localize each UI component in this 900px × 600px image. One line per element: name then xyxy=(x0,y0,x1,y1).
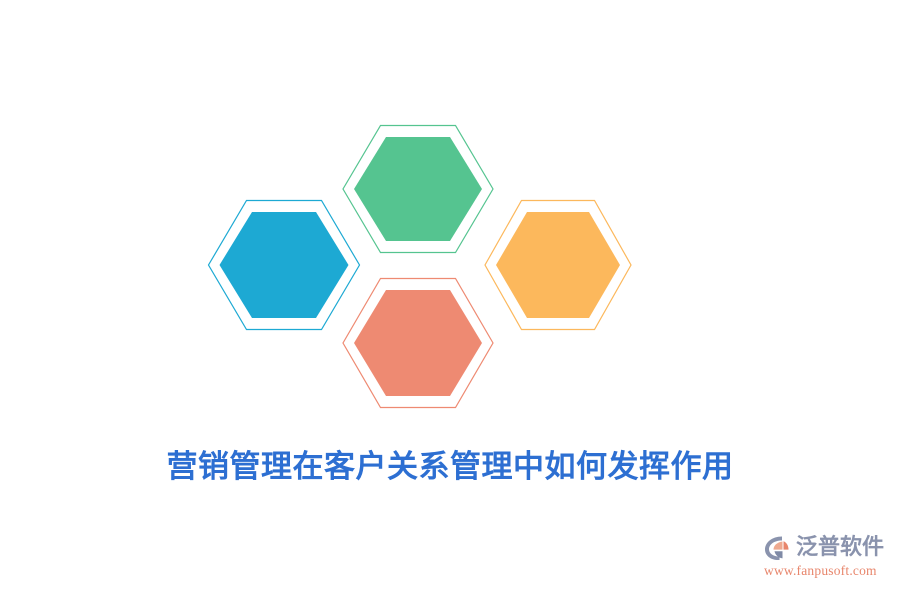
hexagon-orange xyxy=(485,201,631,330)
fanpu-logo-icon xyxy=(762,533,794,563)
hexagon-green-fill xyxy=(354,137,482,241)
watermark: 泛普软件 www.fanpusoft.com xyxy=(762,532,898,584)
hexagon-blue xyxy=(209,201,360,330)
watermark-brand-row: 泛普软件 xyxy=(762,532,898,564)
hexagon-orange-fill xyxy=(496,212,620,318)
hexagon-blue-fill xyxy=(220,212,349,318)
page-title: 营销管理在客户关系管理中如何发挥作用 xyxy=(0,441,900,486)
hexagon-salmon xyxy=(343,279,493,408)
poster-canvas: 营销管理在客户关系管理中如何发挥作用 泛普软件 www.fanpusoft.co… xyxy=(0,0,900,600)
honeycomb-diagram xyxy=(0,0,900,600)
watermark-url-text: www.fanpusoft.com xyxy=(762,563,898,579)
hexagon-salmon-fill xyxy=(354,290,482,396)
watermark-brand-text: 泛普软件 xyxy=(796,533,884,563)
hexagon-green xyxy=(343,126,493,253)
